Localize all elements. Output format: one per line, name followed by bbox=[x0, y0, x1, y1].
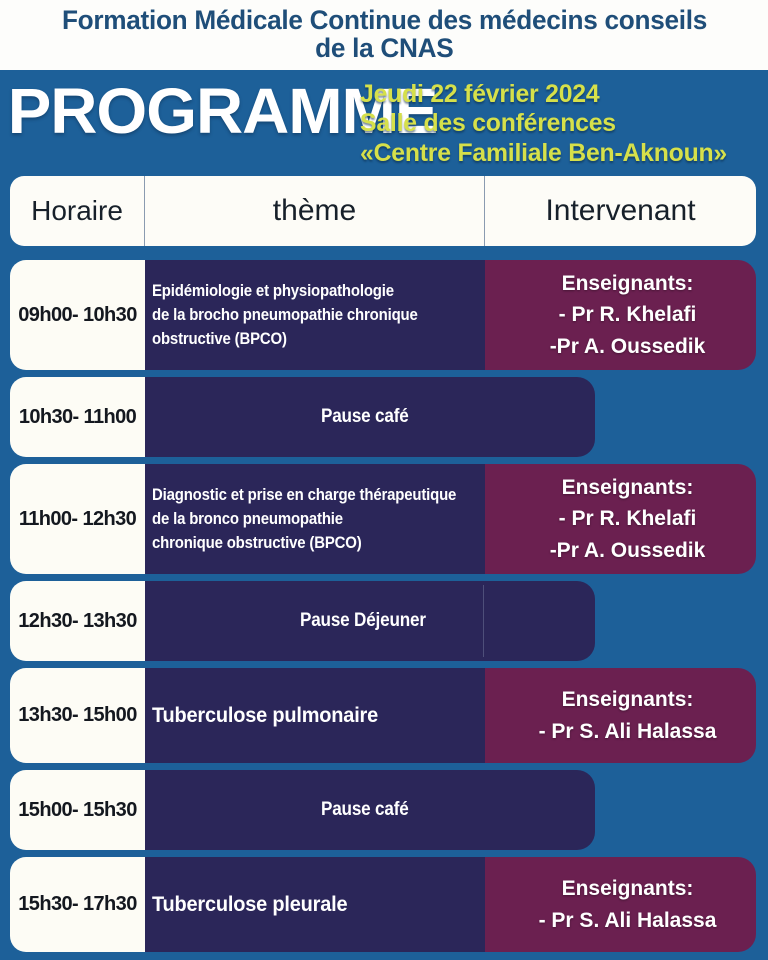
cell-theme: Pause Déjeuner bbox=[145, 581, 595, 661]
speaker-line: Enseignants: bbox=[485, 472, 756, 503]
theme-line: de la brocho pneumopathie chronique bbox=[152, 303, 445, 327]
cell-time: 09h00- 10h30 bbox=[10, 260, 145, 370]
table-row: 09h00- 10h30 Epidémiologie et physiopath… bbox=[10, 260, 756, 370]
theme-line: chronique obstructive (BPCO) bbox=[152, 531, 445, 555]
cell-time: 15h00- 15h30 bbox=[10, 770, 145, 850]
speaker-line: Enseignants: bbox=[485, 873, 756, 904]
table-row-break: 10h30- 11h00 Pause café bbox=[10, 377, 756, 457]
column-header-intervenant: Intervenant bbox=[485, 176, 756, 246]
title-line-2: de la CNAS bbox=[315, 35, 453, 63]
cell-theme: Pause café bbox=[145, 377, 595, 457]
cell-time: 12h30- 13h30 bbox=[10, 581, 145, 661]
speaker-line: -Pr A. Oussedik bbox=[485, 535, 756, 566]
table-header-row: Horaire thème Intervenant bbox=[10, 176, 756, 246]
title-line-1: Formation Médicale Continue des médecins… bbox=[61, 7, 706, 35]
programme-poster: Formation Médicale Continue des médecins… bbox=[0, 0, 768, 960]
column-header-horaire: Horaire bbox=[10, 176, 145, 246]
theme-line: Pause café bbox=[321, 797, 409, 824]
speaker-line: Enseignants: bbox=[485, 684, 756, 715]
banner-date: Jeudi 22 février 2024 bbox=[360, 80, 760, 109]
cell-time: 15h30- 17h30 bbox=[10, 857, 145, 952]
cell-theme: Tuberculose pulmonaire bbox=[145, 668, 485, 763]
speaker-line: - Pr S. Ali Halassa bbox=[485, 905, 756, 936]
theme-line: Tuberculose pulmonaire bbox=[152, 701, 468, 731]
cell-theme: Tuberculose pleurale bbox=[145, 857, 485, 952]
cell-time: 10h30- 11h00 bbox=[10, 377, 145, 457]
column-header-theme: thème bbox=[145, 176, 485, 246]
theme-line: Tuberculose pleurale bbox=[152, 890, 468, 920]
theme-line: obstructive (BPCO) bbox=[152, 327, 445, 351]
theme-line: Diagnostic et prise en charge thérapeuti… bbox=[152, 483, 445, 507]
cell-speaker: Enseignants: - Pr R. Khelafi -Pr A. Ouss… bbox=[485, 464, 756, 574]
speaker-line: - Pr R. Khelafi bbox=[485, 299, 756, 330]
cell-time: 11h00- 12h30 bbox=[10, 464, 145, 574]
speaker-line: -Pr A. Oussedik bbox=[485, 331, 756, 362]
cell-time: 13h30- 15h00 bbox=[10, 668, 145, 763]
theme-line: Epidémiologie et physiopathologie bbox=[152, 279, 445, 303]
speaker-line: - Pr S. Ali Halassa bbox=[485, 716, 756, 747]
banner-details: Jeudi 22 février 2024 Salle des conféren… bbox=[360, 80, 760, 168]
cell-theme: Diagnostic et prise en charge thérapeuti… bbox=[145, 464, 485, 574]
theme-line: Pause café bbox=[321, 404, 409, 431]
programme-banner: PROGRAMME Jeudi 22 février 2024 Salle de… bbox=[0, 70, 768, 170]
column-divider bbox=[483, 585, 484, 657]
cell-theme: Epidémiologie et physiopathologie de la … bbox=[145, 260, 485, 370]
banner-place: «Centre Familiale Ben-Aknoun» bbox=[360, 139, 760, 168]
table-row-break: 15h00- 15h30 Pause café bbox=[10, 770, 756, 850]
programme-table: Horaire thème Intervenant 09h00- 10h30 E… bbox=[0, 170, 768, 960]
table-row: 13h30- 15h00 Tuberculose pulmonaire Ense… bbox=[10, 668, 756, 763]
speaker-line: Enseignants: bbox=[485, 268, 756, 299]
theme-line: Pause Déjeuner bbox=[300, 608, 426, 635]
speaker-line: - Pr R. Khelafi bbox=[485, 503, 756, 534]
cell-speaker: Enseignants: - Pr S. Ali Halassa bbox=[485, 668, 756, 763]
theme-line: de la bronco pneumopathie bbox=[152, 507, 445, 531]
banner-venue: Salle des conférences bbox=[360, 109, 760, 138]
cell-speaker: Enseignants: - Pr R. Khelafi -Pr A. Ouss… bbox=[485, 260, 756, 370]
table-row-break: 12h30- 13h30 Pause Déjeuner bbox=[10, 581, 756, 661]
poster-title: Formation Médicale Continue des médecins… bbox=[0, 0, 768, 70]
table-row: 15h30- 17h30 Tuberculose pleurale Enseig… bbox=[10, 857, 756, 952]
cell-speaker: Enseignants: - Pr S. Ali Halassa bbox=[485, 857, 756, 952]
table-row: 11h00- 12h30 Diagnostic et prise en char… bbox=[10, 464, 756, 574]
cell-theme: Pause café bbox=[145, 770, 595, 850]
